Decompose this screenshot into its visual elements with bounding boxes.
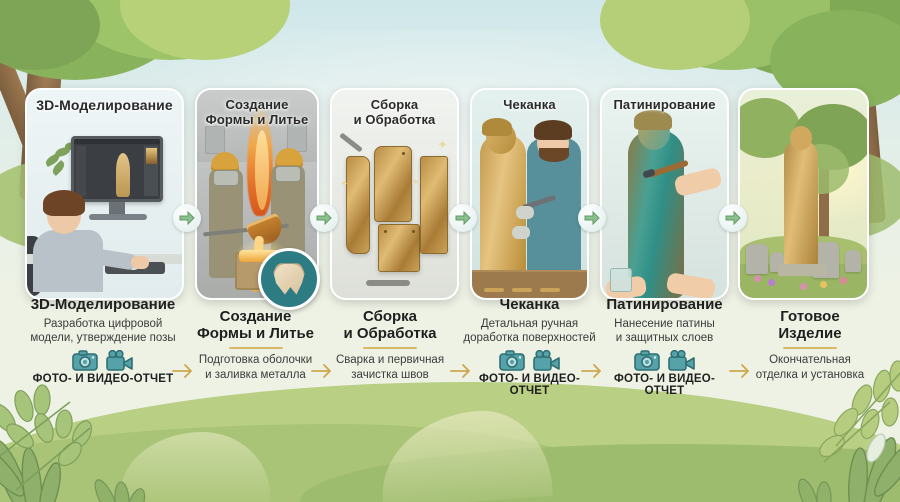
flower [768,279,775,286]
worker-visor-left [213,170,239,186]
step-3-card-title: Сборкаи Обработка [332,98,457,127]
bronze-plate-4 [420,156,448,254]
sparkle-icon: ✦ [340,180,348,190]
arrow-right-icon [455,211,471,225]
step-6-caption-desc: Окончательная отделка и установка [740,353,880,382]
arrow-right-icon [725,211,741,225]
finished-statue-head [790,126,812,150]
step-4-caption: Чеканка Детальная ручная доработка повер… [462,296,597,397]
video-camera-icon [106,350,134,371]
designer-hair [43,190,85,216]
video-camera-icon [668,350,696,371]
step-3-caption: Сборка и Обработка Сварка и первичная за… [325,308,455,382]
statue-pedestal [778,264,826,276]
step-5-desc-line2: и защитных слоев [616,332,714,344]
step-5-card-title: Патинирование [602,98,727,113]
connector-arrow-2 [310,204,338,232]
step-3-card-title-line1: Сборка [371,97,418,112]
finished-bronze-statue [784,140,818,272]
step-6-caption: Готовое Изделие Окончательная отделка и … [740,308,880,382]
step-card-5[interactable]: Патинирование [600,88,729,300]
monitor [71,136,163,202]
step-2-caption-title: Создание Формы и Литье [188,308,323,342]
mold-shell-icon [272,262,306,296]
bronze-plate-2 [374,146,412,222]
step-2-desc-line1: Подготовка оболочки [199,354,312,366]
step-1-illustration [27,90,182,298]
step-1-caption: 3D-Моделирование Разработка цифровой мод… [8,296,198,385]
step-2-desc-line2: и заливка металла [205,369,306,381]
step-6-caption-title: Готовое Изделие [740,308,880,342]
step-4-desc-line2: доработка поверхностей [463,332,595,344]
step-6-desc-line1: Окончательная [769,354,851,366]
step-5-report-icons [597,350,732,371]
flower [840,277,847,284]
step-card-3[interactable]: ✦ ✦ ✦ Сборкаи Обработка [330,88,459,300]
arrow-right-icon [584,211,600,225]
step-card-4[interactable]: Чеканка [470,88,589,300]
bench-tool [512,288,532,292]
craftsman-beard [539,148,569,162]
patina-solution-bottle [610,268,632,292]
step-2-caption-desc: Подготовка оболочки и заливка металла [188,353,323,382]
connector-arrow-3 [449,204,477,232]
grinding-tool [339,133,363,153]
worker-visor-right [275,166,301,182]
connector-arrow-4 [578,204,606,232]
step-3-desc-line1: Сварка и первичная [336,354,444,366]
rivet [402,152,405,155]
step-4-caption-title: Чеканка [462,296,597,313]
video-camera-icon [533,350,561,371]
step-4-caption-desc: Детальная ручная доработка поверхностей [462,317,597,346]
step-6-divider [783,347,837,349]
step-3-caption-title: Сборка и Обработка [325,308,455,342]
step-5-caption: Патинирование Нанесение патины и защитны… [597,296,732,397]
designer-hand [131,256,149,269]
step-5-desc-line1: Нанесение патины [614,318,715,330]
workbench-tool [366,280,410,286]
step-1-caption-desc: Разработка цифровой модели, утверждение … [8,317,198,346]
worker-helmet-left [211,152,239,172]
connector-arrow-1 [173,204,201,232]
step-4-report-label: ФОТО- И ВИДЕО-ОТЧЕТ [462,373,597,397]
photo-camera-icon [634,350,660,371]
bench-tool [484,288,504,292]
photo-camera-icon [499,350,525,371]
step-3-divider [363,347,417,349]
worker-helmet-right [275,148,303,168]
mold-badge [258,248,320,310]
step-1-card-title: 3D-Моделирование [27,98,182,114]
step-2-caption-title-line1: Создание [220,308,292,325]
infographic-canvas: 3D-Моделирование Создание Формы и Литье [0,0,900,502]
step-3-caption-title-line2: и Обработка [343,325,436,342]
sparkle-icon: ✦ [412,178,420,187]
step-4-desc-line1: Детальная ручная [481,318,578,330]
step-1-desc-line1: Разработка цифровой [44,318,163,330]
step-4-illustration [472,90,587,298]
step-4-card-title: Чеканка [472,98,587,113]
work-glove [512,226,530,239]
step-1-caption-title: 3D-Моделирование [8,296,198,313]
step-1-report-label: ФОТО- И ВИДЕО-ОТЧЕТ [8,373,198,385]
rivet [412,230,415,233]
step-2-divider [229,347,283,349]
step-5-report-label: ФОТО- И ВИДЕО-ОТЧЕТ [597,373,732,397]
craftsman-hair [534,120,572,140]
monitor-screen [74,139,160,199]
step-6-caption-title-line1: Готовое [780,308,839,325]
flower [754,275,761,282]
step-4-report-block: ФОТО- И ВИДЕО-ОТЧЕТ [462,350,597,397]
furnace-flame-core [255,130,269,210]
software-toolbar [74,139,160,144]
sparkle-icon: ✦ [437,138,448,151]
bronze-plate-1 [346,156,370,254]
step-card-6[interactable] [738,88,869,300]
step-3-caption-title-line1: Сборка [363,308,417,325]
gravestone-1 [746,244,768,274]
statue-hair [634,110,672,130]
wall-panel-1 [205,126,225,154]
step-5-illustration [602,90,727,298]
flower [820,281,827,288]
step-3-caption-desc: Сварка и первичная зачистка швов [325,353,455,382]
step-1-desc-line2: модели, утверждение позы [30,332,175,344]
step-1-report-icons [8,350,198,371]
step-6-caption-title-line2: Изделие [778,325,841,342]
bench-tool [540,288,560,292]
connector-arrow-5 [719,204,747,232]
gravestone-4 [845,250,861,272]
step-1-report-block: ФОТО- И ВИДЕО-ОТЧЕТ [8,350,198,385]
step-5-caption-desc: Нанесение патины и защитных слоев [597,317,732,346]
step-6-desc-line2: отделка и установка [756,369,864,381]
photo-camera-icon [72,350,98,371]
arrow-right-icon [179,211,195,225]
step-2-caption: Создание Формы и Литье Подготовка оболоч… [188,308,323,382]
work-glove [516,206,534,219]
step-2-caption-title-line2: Формы и Литье [197,325,314,342]
step-5-caption-title: Патинирование [597,296,732,313]
3d-model-figure [116,153,130,197]
step-6-illustration [740,90,867,298]
step-5-report-block: ФОТО- И ВИДЕО-ОТЧЕТ [597,350,732,397]
software-left-panel [76,146,86,196]
step-4-report-icons [462,350,597,371]
monitor-base [89,214,147,220]
step-card-1[interactable]: 3D-Моделирование [25,88,184,300]
step-3-card-title-line2: и Обработка [354,112,436,127]
arrow-right-icon [316,211,332,225]
step-2-card-title: Создание Формы и Литье [197,98,317,127]
material-swatch [146,148,157,164]
workbench [472,272,587,298]
flower [800,283,807,290]
statue-hair [482,118,512,136]
step-3-desc-line2: зачистка швов [351,369,428,381]
rivet [384,230,387,233]
